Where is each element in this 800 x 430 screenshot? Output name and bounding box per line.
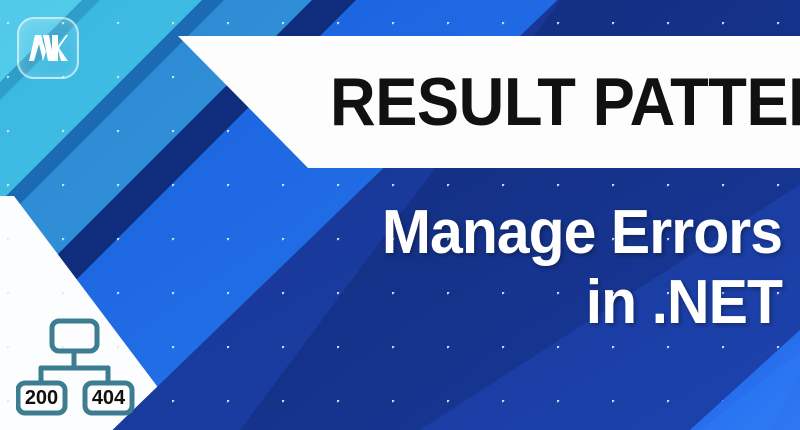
nk-monogram-icon (27, 33, 69, 63)
status-badge-404: 404 (85, 383, 132, 413)
root-node-shape (52, 321, 97, 351)
status-badge-200-label: 200 (25, 387, 58, 409)
title-banner-highlight (178, 36, 800, 42)
page-title: RESULT PATTERN (330, 62, 760, 142)
status-badge-404-label: 404 (92, 387, 126, 409)
headline-line-2: in .NET (336, 273, 783, 333)
status-code-diagram: 200 404 (16, 315, 136, 421)
brand-logo-badge[interactable] (17, 17, 79, 79)
status-badge-200: 200 (18, 383, 65, 413)
headline-line-1: Manage Errors (336, 203, 783, 263)
headline-block: Manage Errors in .NET (312, 203, 782, 332)
thumbnail-canvas: RESULT PATTERN Manage Errors in .NET (0, 0, 800, 430)
network-hierarchy-icon: 200 404 (16, 315, 136, 421)
